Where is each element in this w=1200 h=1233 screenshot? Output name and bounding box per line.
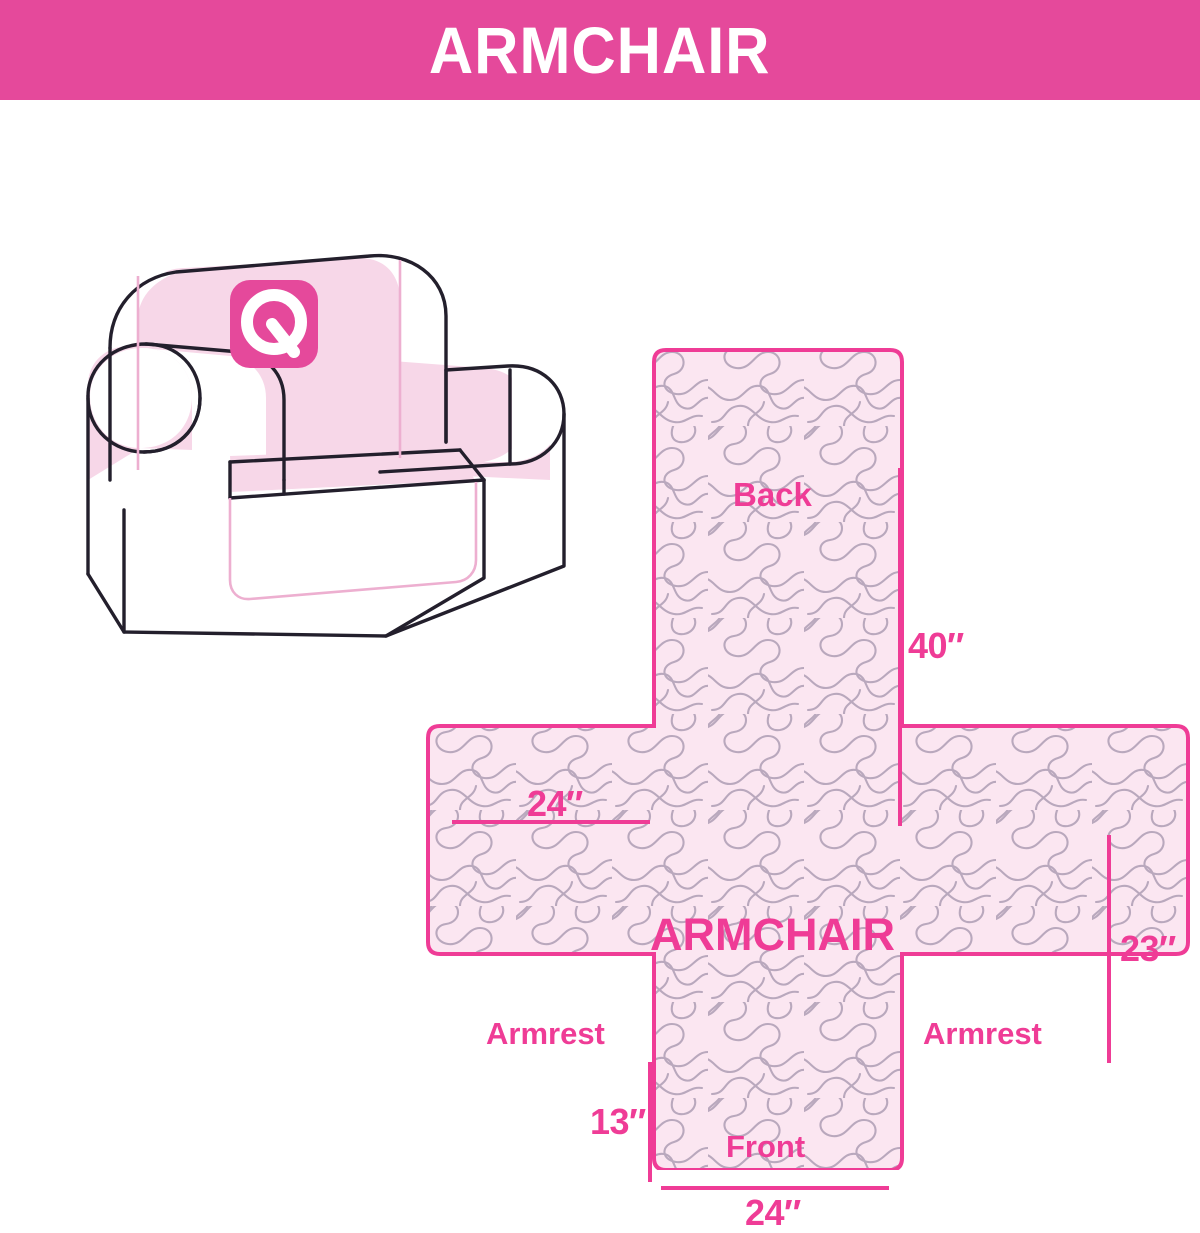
panel-label-armrest-left: Armrest <box>486 1018 605 1049</box>
panel-label-center: ARMCHAIR <box>650 912 895 957</box>
dimension-line-front-drop <box>648 1062 652 1182</box>
panel-label-front: Front <box>726 1131 805 1162</box>
panel-label-armrest-right: Armrest <box>923 1018 1042 1049</box>
dimension-line-back-length <box>898 468 902 826</box>
dimension-label-front-width: 24″ <box>745 1195 801 1231</box>
page-title: ARMCHAIR <box>429 17 771 83</box>
diagram-stage: Back ARMCHAIR Armrest Armrest Front 40″ … <box>0 100 1200 1200</box>
dimension-label-back-width: 24″ <box>527 786 583 822</box>
panel-label-back: Back <box>733 478 812 511</box>
dimension-line-front-width <box>661 1186 889 1190</box>
dimension-label-front-drop: 13″ <box>590 1104 646 1140</box>
dimension-line-center-depth <box>1107 835 1111 1063</box>
header-banner: ARMCHAIR <box>0 0 1200 100</box>
brand-logo <box>230 280 318 368</box>
dimension-label-back-length: 40″ <box>908 628 964 664</box>
dimension-label-center-depth: 23″ <box>1120 931 1176 967</box>
